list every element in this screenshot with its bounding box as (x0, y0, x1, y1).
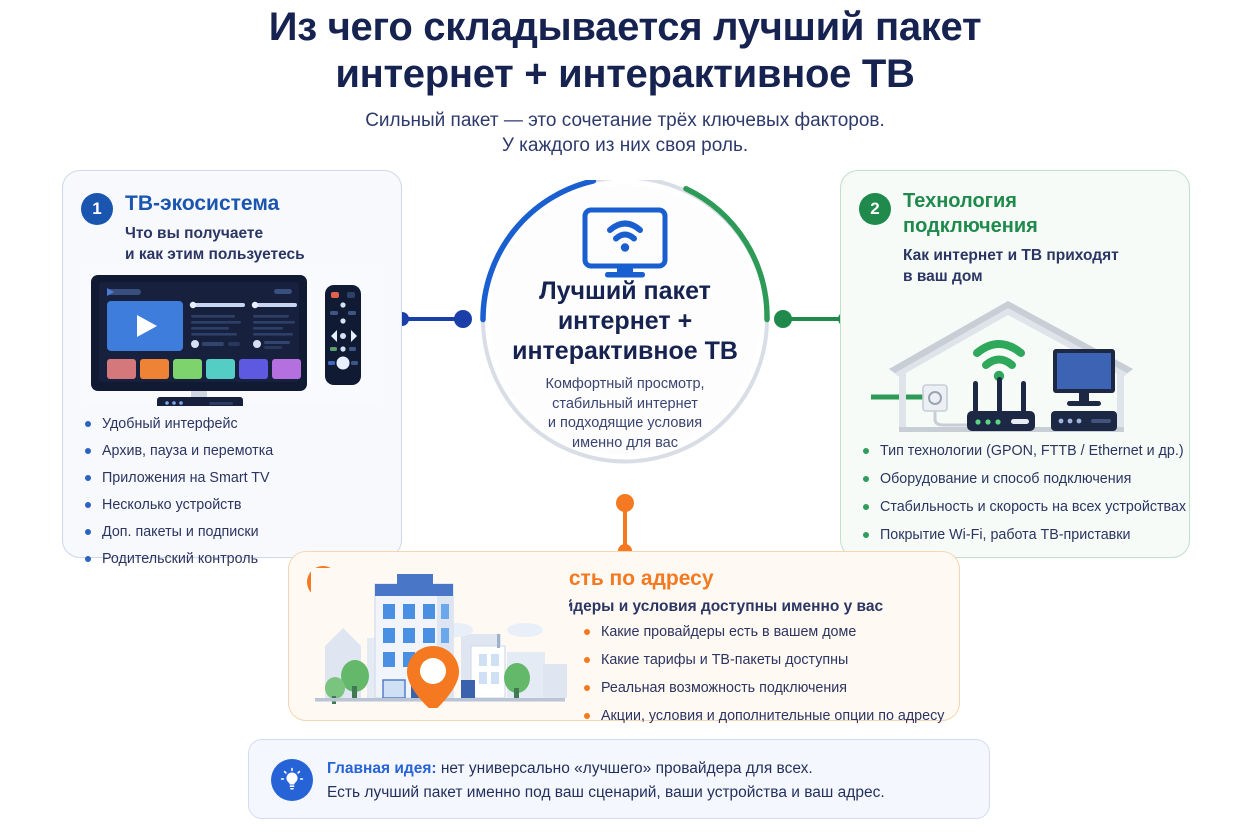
list-item: Покрытие Wi-Fi, работа ТВ-приставки (863, 527, 1186, 543)
card-tv-ecosystem[interactable]: 1 ТВ-экосистема Что вы получаете и как э… (62, 170, 402, 558)
key-idea-line2: Есть лучший пакет именно под ваш сценари… (327, 781, 885, 805)
page-title-line1: Из чего складывается лучший пакет (0, 4, 1250, 51)
key-idea-callout: Главная идея: нет универсально «лучшего»… (248, 739, 990, 819)
key-idea-line1: нет универсально «лучшего» провайдера дл… (437, 760, 813, 777)
card-1-subtitle-line2: и как этим пользуетесь (125, 244, 385, 265)
card-2-title: Технология подключения (903, 189, 1153, 239)
hub-text-block: Лучший пакет интернет + интерактивное ТВ… (475, 276, 775, 453)
hub-heading-line3: интерактивное ТВ (475, 336, 775, 366)
page-title: Из чего складывается лучший пакет интерн… (0, 4, 1250, 98)
page-subtitle: Сильный пакет — это сочетание трёх ключе… (0, 108, 1250, 158)
hub-heading-line2: интернет + (475, 306, 775, 336)
hub-desc-line4: именно для вас (475, 434, 775, 454)
card-2-subtitle-line1: Как интернет и ТВ приходят (903, 245, 1173, 266)
card-2-bullet-list: Тип технологии (GPON, FTTB / Ethernet и … (863, 443, 1186, 555)
card-2-title-line1: Технология (903, 189, 1153, 214)
hub-description: Комфортный просмотр, стабильный интернет… (475, 375, 775, 453)
smart-tv-with-remote-illustration (81, 271, 383, 406)
list-item: Несколько устройств (85, 497, 273, 513)
list-item: Акции, условия и дополнительные опции по… (584, 708, 944, 724)
list-item: Тип технологии (GPON, FTTB / Ethernet и … (863, 443, 1186, 459)
key-idea-text: Главная идея: нет универсально «лучшего»… (327, 757, 885, 805)
list-item: Архив, пауза и перемотка (85, 443, 273, 459)
card-3-bullet-list: Какие провайдеры есть в вашем доме Какие… (584, 624, 944, 736)
hub-heading: Лучший пакет интернет + интерактивное ТВ (475, 276, 775, 366)
card-1-subtitle-line1: Что вы получаете (125, 223, 385, 244)
list-item: Какие тарифы и ТВ-пакеты доступны (584, 652, 944, 668)
page-header: Из чего складывается лучший пакет интерн… (0, 4, 1250, 158)
card-1-bullet-list: Удобный интерфейс Архив, пауза и перемот… (85, 416, 273, 578)
list-item: Доп. пакеты и подписки (85, 524, 273, 540)
hub-desc-line2: стабильный интернет (475, 395, 775, 415)
card-address-availability[interactable]: 3 Доступность по адресу Какие провайдеры… (288, 551, 960, 721)
hub-heading-line1: Лучший пакет (475, 276, 775, 306)
page-subtitle-line1: Сильный пакет — это сочетание трёх ключе… (0, 108, 1250, 133)
list-item: Удобный интерфейс (85, 416, 273, 432)
list-item: Стабильность и скорость на всех устройст… (863, 499, 1186, 515)
page-subtitle-line2: У каждого из них своя роль. (0, 133, 1250, 158)
infographic-canvas: Из чего складывается лучший пакет интерн… (0, 0, 1250, 833)
tv-wifi-icon (579, 206, 671, 282)
card-2-subtitle: Как интернет и ТВ приходят в ваш дом (903, 245, 1173, 287)
card-connection-technology[interactable]: 2 Технология подключения Как интернет и … (840, 170, 1190, 558)
hub-desc-line1: Комфортный просмотр, (475, 375, 775, 395)
key-idea-label: Главная идея: (327, 760, 437, 777)
list-item: Реальная возможность подключения (584, 680, 944, 696)
center-hub: Лучший пакет интернет + интерактивное ТВ… (446, 180, 804, 520)
card-2-subtitle-line2: в ваш дом (903, 266, 1173, 287)
list-item: Оборудование и способ подключения (863, 471, 1186, 487)
card-1-title: ТВ-экосистема (125, 191, 279, 217)
card-1-number-badge: 1 (81, 193, 113, 225)
hub-desc-line3: и подходящие условия (475, 414, 775, 434)
list-item: Приложения на Smart TV (85, 470, 273, 486)
list-item: Родительский контроль (85, 551, 273, 567)
card-2-title-line2: подключения (903, 214, 1153, 239)
list-item: Какие провайдеры есть в вашем доме (584, 624, 944, 640)
page-title-line2: интернет + интерактивное ТВ (0, 51, 1250, 98)
house-router-tv-illustration (865, 289, 1165, 439)
lightbulb-icon (271, 759, 313, 801)
card-1-subtitle: Что вы получаете и как этим пользуетесь (125, 223, 385, 265)
city-buildings-map-pin-illustration (311, 568, 569, 708)
card-2-number-badge: 2 (859, 193, 891, 225)
